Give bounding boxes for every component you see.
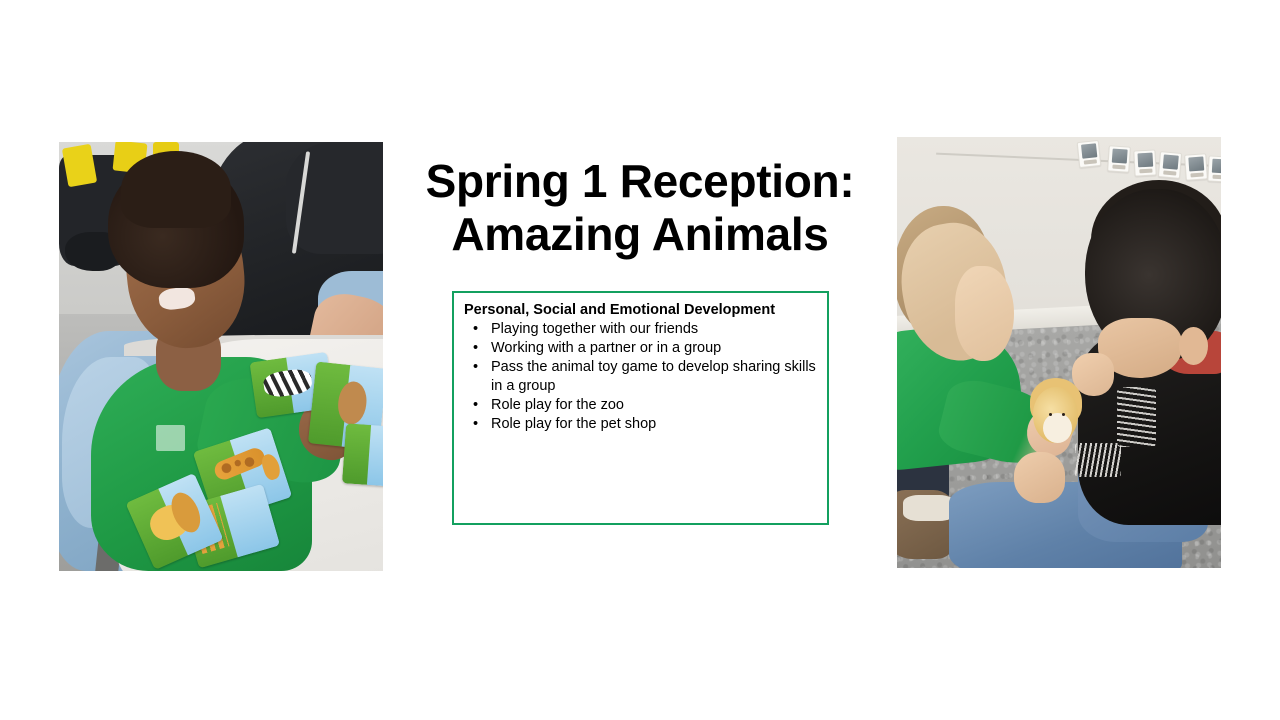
lion-toy-face — [1043, 413, 1072, 443]
psed-bullet-list: • Playing together with our friends • Wo… — [464, 320, 817, 434]
list-item: • Pass the animal toy game to develop sh… — [464, 358, 817, 396]
list-item: • Playing together with our friends — [464, 320, 817, 339]
content-heading: Personal, Social and Emotional Developme… — [464, 301, 817, 320]
bullet-icon: • — [473, 320, 478, 339]
list-item-label: Role play for the zoo — [491, 397, 624, 413]
list-item: • Role play for the zoo — [464, 396, 817, 415]
list-item-label: Pass the animal toy game to develop shar… — [491, 359, 816, 394]
bullet-icon: • — [473, 396, 478, 415]
school-logo-badge — [156, 425, 185, 451]
wall-name-card — [1077, 140, 1102, 168]
photo-left[interactable] — [59, 142, 383, 571]
girl-boot-fur-trim — [903, 495, 955, 521]
wall-name-card — [1133, 149, 1156, 176]
bullet-icon: • — [473, 415, 478, 434]
page-title: Spring 1 Reception: Amazing Animals — [400, 155, 880, 261]
wall-name-card — [1207, 156, 1221, 183]
photo-right[interactable] — [897, 137, 1221, 568]
girl-face — [955, 266, 1013, 361]
wall-name-card — [1107, 145, 1131, 172]
hoodie-print-graphic — [1117, 387, 1156, 447]
child-hair-top — [121, 151, 231, 228]
list-item-label: Working with a partner or in a group — [491, 340, 721, 356]
hoodie-cuff-print — [1075, 443, 1120, 477]
puzzle-card-small — [342, 423, 383, 487]
list-item: • Role play for the pet shop — [464, 415, 817, 434]
bullet-icon: • — [473, 339, 478, 358]
boy-ear — [1179, 327, 1208, 366]
slide-canvas: Spring 1 Reception: Amazing Animals Pers… — [0, 0, 1280, 720]
list-item: • Working with a partner or in a group — [464, 339, 817, 358]
psed-content-box: Personal, Social and Emotional Developme… — [452, 291, 829, 525]
wall-name-card — [1184, 153, 1208, 180]
boy-hand-lower — [1014, 452, 1066, 504]
list-item-label: Role play for the pet shop — [491, 416, 656, 432]
bullet-icon: • — [473, 358, 478, 377]
wall-name-card — [1158, 151, 1182, 179]
list-item-label: Playing together with our friends — [491, 321, 698, 337]
